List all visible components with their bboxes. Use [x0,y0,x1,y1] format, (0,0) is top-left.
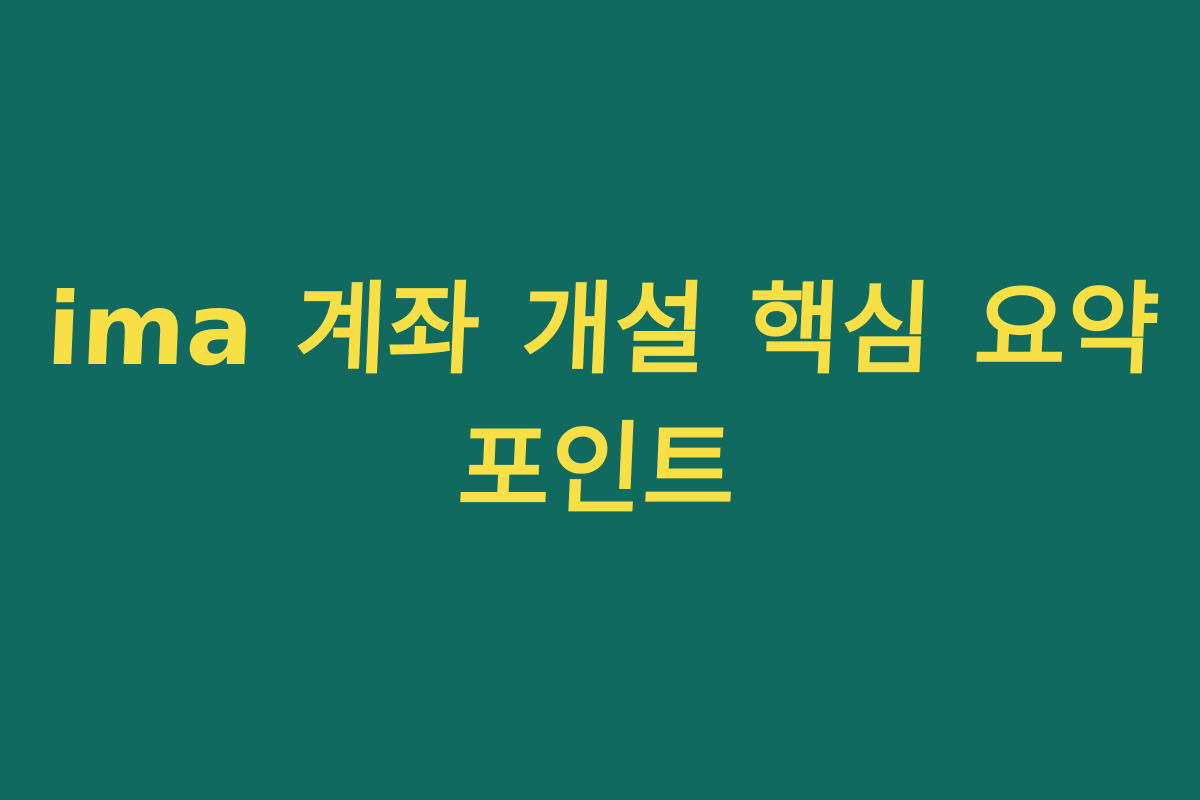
title-banner: ima 계좌 개설 핵심 요약 포인트 [0,0,1200,800]
page-title: ima 계좌 개설 핵심 요약 포인트 [0,260,1200,540]
page-title-line-1: ima 계좌 개설 핵심 요약 [40,260,1166,400]
page-title-line-2: 포인트 [34,400,1160,540]
